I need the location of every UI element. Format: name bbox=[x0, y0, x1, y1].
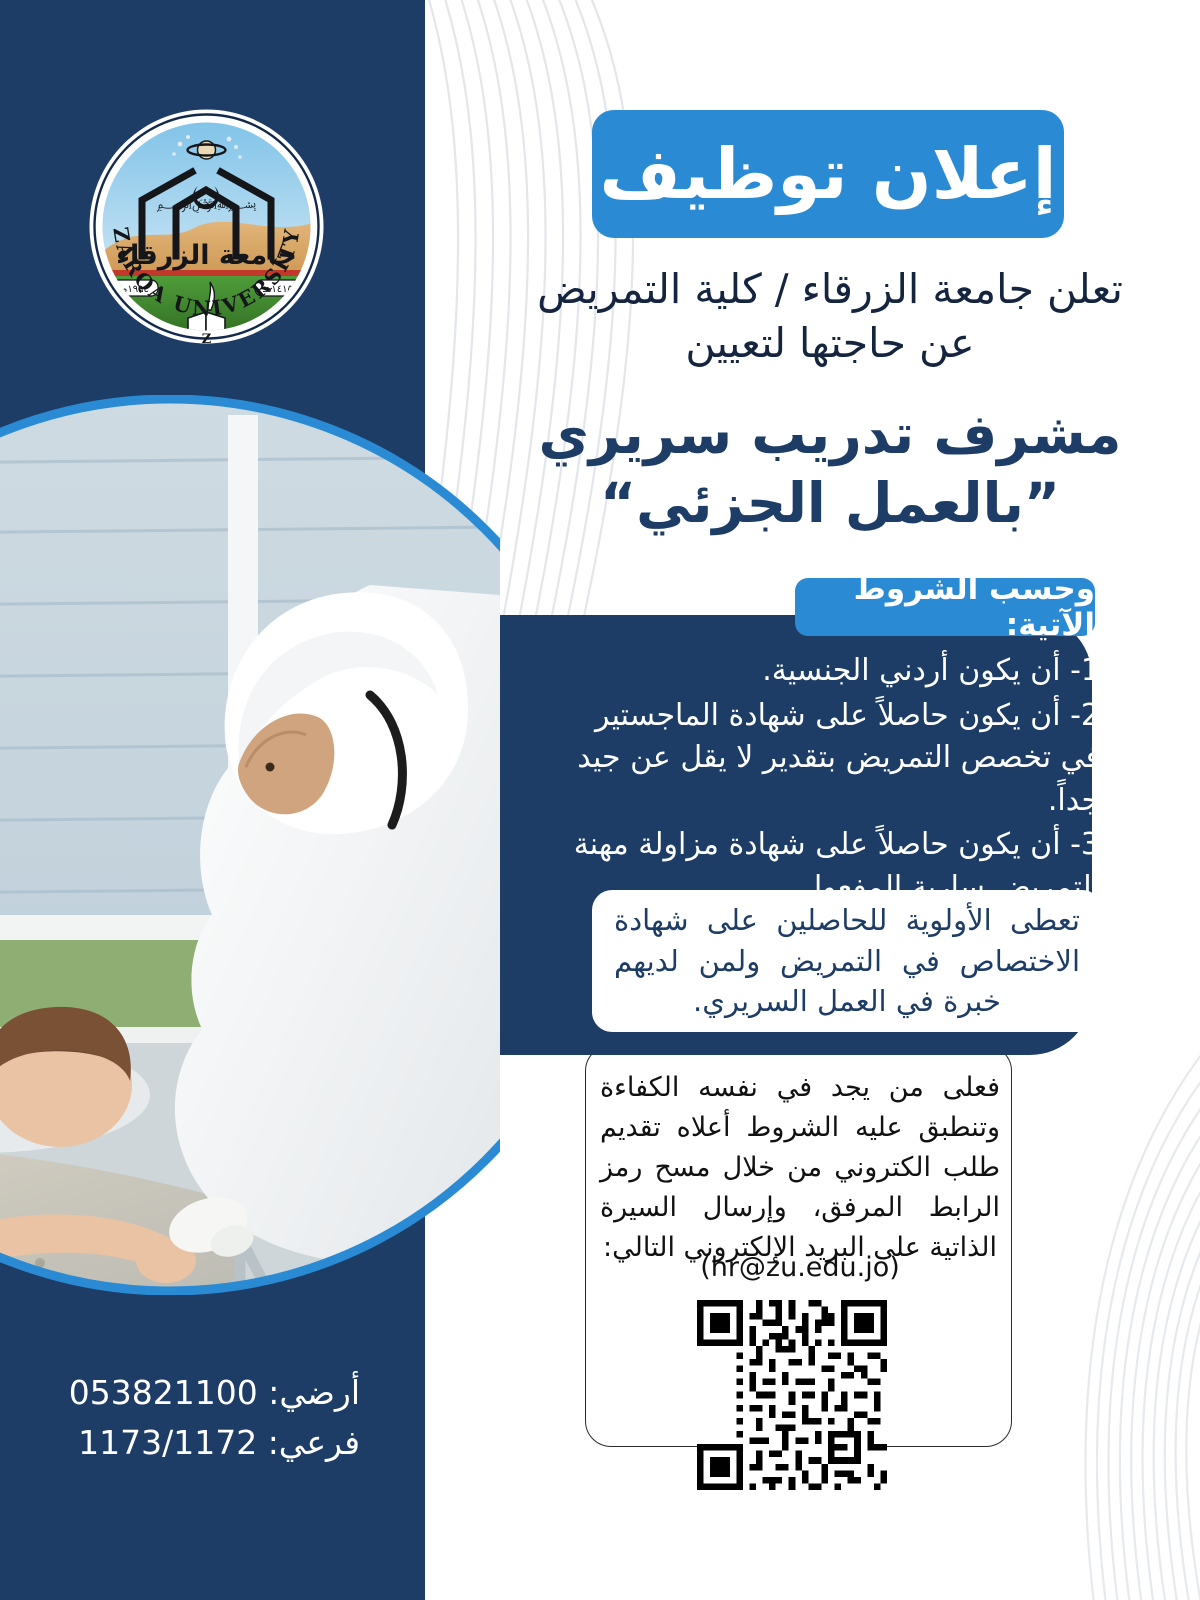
condition-item: 1- أن يكون أردني الجنسية. bbox=[560, 650, 1100, 693]
svg-text:﷽: ﷽ bbox=[157, 197, 257, 213]
intro-text: تعلن جامعة الزرقاء / كلية التمريض عن حاج… bbox=[520, 262, 1140, 370]
job-title-line-2: ”بالعمل الجزئي“ bbox=[520, 469, 1140, 538]
header-badge-label: إعلان توظيف bbox=[599, 139, 1056, 209]
contact-phones: أرضي: 053821100 فرعي: 1173/1172 bbox=[40, 1368, 360, 1467]
qr-code[interactable] bbox=[697, 1300, 887, 1490]
landline-line: أرضي: 053821100 bbox=[40, 1368, 360, 1418]
svg-text:Z: Z bbox=[202, 332, 212, 347]
university-logo: ﷽ جامعة الزرقاء ١٩٩٤م ١٤١٥هـ bbox=[84, 104, 329, 349]
decorative-lines-right bbox=[1000, 1000, 1200, 1600]
conditions-badge-label: وحسب الشروط الآتية: bbox=[795, 571, 1095, 643]
job-title: مشرف تدريب سريري ”بالعمل الجزئي“ bbox=[520, 400, 1140, 538]
instructions-text: فعلى من يجد في نفسه الكفاءة وتنطبق عليه … bbox=[600, 1068, 1000, 1268]
job-title-line-1: مشرف تدريب سريري bbox=[520, 400, 1140, 469]
conditions-badge: وحسب الشروط الآتية: bbox=[795, 578, 1095, 636]
intro-line-2: عن حاجتها لتعيين bbox=[520, 316, 1140, 370]
intro-line-1: تعلن جامعة الزرقاء / كلية التمريض bbox=[520, 262, 1140, 316]
priority-note-text: تعطى الأولوية للحاصلين على شهادة الاختصا… bbox=[592, 900, 1102, 1022]
condition-item: 2- أن يكون حاصلاً على شهادة الماجستير في… bbox=[560, 695, 1100, 823]
contact-email: (hr@zu.edu.jo) bbox=[600, 1252, 1000, 1283]
conditions-list: 1- أن يكون أردني الجنسية. 2- أن يكون حاص… bbox=[560, 650, 1100, 912]
extension-line: فرعي: 1173/1172 bbox=[40, 1418, 360, 1468]
priority-note-box: تعطى الأولوية للحاصلين على شهادة الاختصا… bbox=[592, 890, 1102, 1032]
poster-root: ﷽ جامعة الزرقاء ١٩٩٤م ١٤١٥هـ bbox=[0, 0, 1200, 1600]
nurse-photo bbox=[0, 395, 500, 1295]
header-badge: إعلان توظيف bbox=[592, 110, 1064, 238]
